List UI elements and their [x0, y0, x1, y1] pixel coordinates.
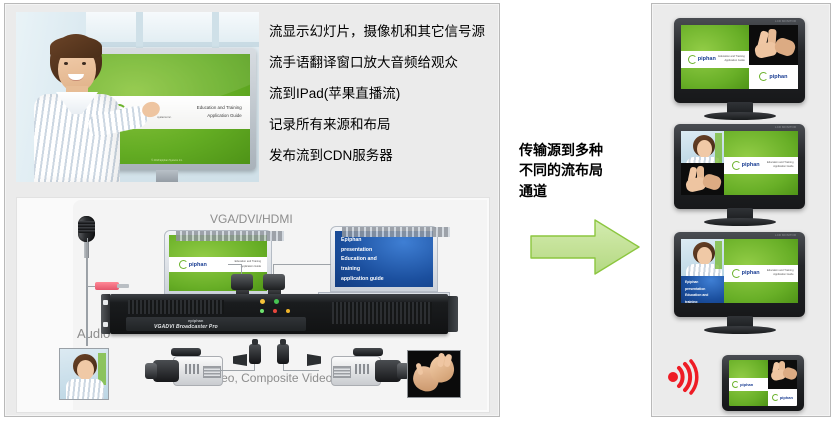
- bullet-5: 发布流到CDN服务器: [269, 148, 494, 165]
- slide-line: training: [685, 299, 720, 303]
- epiphan-wordmark: piphan: [742, 270, 760, 276]
- laptop-keyboard: [176, 231, 284, 241]
- layout-left-column: [681, 131, 724, 195]
- epiphan-wordmark: epiphan: [188, 318, 203, 323]
- epiphan-wordmark: piphan: [769, 74, 787, 80]
- arrow-caption-line1: 传输源到多种: [519, 140, 649, 160]
- arrow-caption: 传输源到多种 不同的流布局 通道: [519, 140, 649, 201]
- cable-segment: [87, 238, 88, 286]
- slide-title-line2: Application Guide: [235, 265, 262, 270]
- bullet-3: 流到IPad(苹果直播流): [269, 86, 494, 103]
- rack-led-row-bottom: [260, 309, 290, 313]
- monitor-brand-label: LCD MONITOR: [775, 233, 796, 237]
- layout-right-column: piphan: [749, 25, 798, 89]
- layout-right-column: piphan: [768, 360, 797, 406]
- presenter-face: [697, 247, 712, 265]
- monitor-brand-label: LCD MONITOR: [775, 125, 796, 129]
- label-vga-dvi-hdmi: VGA/DVI/HDMI: [210, 212, 293, 226]
- slide-title: Education and Training Application Guide: [197, 104, 242, 121]
- camera-viewfinder: [307, 354, 321, 366]
- camera-controls: [185, 364, 199, 374]
- source-panel: piphan systems inc. Education and Traini…: [4, 3, 500, 417]
- presenter-face: [77, 360, 94, 380]
- layout-cell-presenter: [681, 131, 724, 163]
- slide-title-line2: Application Guide: [718, 59, 745, 64]
- rack-faceplate: epiphan VGADVI Broadcaster Pro: [126, 317, 306, 331]
- svideo-connector-1: [249, 344, 261, 364]
- microphone-grill: [78, 221, 95, 233]
- transfer-arrow-group: 传输源到多种 不同的流布局 通道: [519, 140, 649, 201]
- epiphan-e-icon: [732, 161, 741, 170]
- slide-line: application guide: [341, 275, 427, 285]
- led-amber: [260, 299, 265, 304]
- led-amber: [286, 309, 290, 313]
- slide-title-line2: Application Guide: [197, 112, 242, 120]
- rack-led-row-top: [260, 299, 279, 304]
- monitor-screen: piphan Education and Training Applicatio…: [681, 25, 798, 89]
- led-red: [273, 309, 277, 313]
- arrow-caption-line2: 不同的流布局: [519, 160, 649, 180]
- screenshot-root: piphan systems inc. Education and Traini…: [0, 0, 835, 422]
- epiphan-logo: piphan: [732, 269, 760, 278]
- ipad-output: piphan piphan: [722, 355, 804, 411]
- camera-lens-hood: [145, 363, 157, 379]
- camcorder-icon-2: [317, 350, 395, 390]
- layout-cell-slide: piphan Education and Training Applicatio…: [681, 25, 749, 89]
- presenter-shirt: [66, 379, 104, 400]
- epiphan-logo: piphan: [179, 260, 207, 269]
- hand-palm: [701, 173, 722, 192]
- cable-segment: [228, 264, 242, 265]
- epiphan-logo: piphan: [732, 381, 753, 388]
- rack-vent: [128, 300, 224, 314]
- layout-left-column: Epiphan presentation Education and train…: [681, 239, 724, 303]
- rack-screw: [103, 322, 108, 327]
- monitor-stand-base: [704, 326, 776, 334]
- presenter-fringe: [50, 36, 102, 58]
- monitor-brand-label: LCD MONITOR: [775, 19, 796, 23]
- connector-tip: [280, 339, 286, 345]
- layout-cell-text-slide: Epiphan presentation Education and train…: [681, 276, 724, 303]
- presentation-text-slide: Epiphan presentation Education and train…: [335, 231, 433, 287]
- monitor-bezel: LCD MONITOR Epiphan presentation Educati…: [674, 232, 805, 317]
- slide-line: Epiphan: [341, 236, 427, 246]
- connector-body: [263, 274, 285, 290]
- laptop-screen: Epiphan presentation Education and train…: [335, 231, 433, 287]
- presenter-eye: [82, 62, 86, 65]
- monitor-stand-base: [704, 112, 776, 120]
- connector-body: [277, 344, 289, 364]
- rack-vent: [332, 302, 432, 324]
- presenter-thumbnail: [59, 348, 109, 400]
- wireless-broadcast-icon: [664, 357, 704, 397]
- svideo-connector-2: [277, 344, 289, 364]
- bullet-2: 流手语翻译窗口放大音频给观众: [269, 55, 494, 72]
- monitor-layout-1: LCD MONITOR piphan Education and Trainin…: [674, 18, 805, 103]
- led-green: [260, 309, 264, 313]
- epiphan-logo: piphan: [732, 161, 760, 170]
- cable-segment: [254, 364, 255, 371]
- monitor-bezel: LCD MONITOR: [674, 124, 805, 209]
- layout-cell-logo: piphan: [768, 389, 797, 406]
- connector-tip: [252, 339, 258, 345]
- slide-band: piphan Education and Training Applicatio…: [724, 157, 798, 174]
- camera-panel: [203, 366, 221, 378]
- rack-side-module: [448, 296, 458, 332]
- presenter-face: [697, 140, 712, 158]
- slide-band: piphan Education and Training Applicatio…: [681, 51, 749, 68]
- slide-title-line2: Application Guide: [767, 273, 794, 278]
- epiphan-e-icon: [759, 72, 768, 81]
- epiphan-wordmark: piphan: [742, 162, 760, 168]
- connector-body: [249, 344, 261, 364]
- epiphan-wordmark: piphan: [698, 56, 716, 62]
- rack-screw: [103, 300, 108, 305]
- monitor-layout-3: LCD MONITOR Epiphan presentation Educati…: [674, 232, 805, 317]
- layout-cell-logo: piphan: [749, 65, 798, 89]
- bullet-4: 记录所有来源和布局: [269, 117, 494, 134]
- monitor-screen: Epiphan presentation Education and train…: [681, 239, 798, 303]
- epiphan-wordmark: piphan: [740, 382, 753, 387]
- connector-body: [231, 274, 253, 290]
- layout-cell-presenter: [681, 239, 724, 276]
- presenter-figure: [32, 34, 124, 182]
- tablet-screen: piphan piphan: [729, 360, 797, 406]
- slide-title-line2: Application Guide: [767, 165, 794, 170]
- slide-title: Education and Training Application Guide: [767, 269, 794, 278]
- epiphan-tagline: systems inc.: [157, 116, 171, 119]
- rack-ear-left: [101, 294, 110, 334]
- layout-cell-slide: piphan Education and Training Applicatio…: [724, 239, 798, 303]
- slide-line: training: [341, 265, 427, 275]
- slide-band: piphan Education and Training Applicatio…: [169, 257, 267, 272]
- bullet-1: 流显示幻灯片，摄像机和其它信号源: [269, 24, 494, 41]
- presenter-photo: piphan systems inc. Education and Traini…: [16, 12, 259, 182]
- hand-palm: [773, 36, 797, 58]
- connection-diagram: VGA/DVI/HDMI Audio S-Video, Composite Vi…: [16, 197, 490, 413]
- slide-title: Education and Training Application Guide: [767, 161, 794, 170]
- layout-cell-slide: piphan Education and Training Applicatio…: [724, 131, 798, 195]
- camera-controls: [355, 364, 369, 374]
- feature-bullet-list: 流显示幻灯片，摄像机和其它信号源 流手语翻译窗口放大音频给观众 流到IPad(苹…: [269, 24, 494, 178]
- slide-line: Education and: [685, 292, 720, 299]
- monitor-layout-2: LCD MONITOR: [674, 124, 805, 209]
- audio-jack-icon: [95, 282, 129, 290]
- camera-mic: [353, 348, 383, 356]
- layout-cell-sign-language: [768, 360, 797, 389]
- cable-segment: [273, 264, 331, 265]
- thumbnail-backdrop: [715, 133, 722, 163]
- audio-jack-tip: [117, 284, 129, 288]
- camera-panel: [333, 366, 351, 378]
- vgadvi-broadcaster-pro: epiphan VGADVI Broadcaster Pro: [110, 294, 448, 334]
- slide-line: Epiphan: [685, 279, 720, 286]
- monitor-stand-base: [704, 218, 776, 226]
- monitor-bezel: LCD MONITOR piphan Education and Trainin…: [674, 18, 805, 103]
- epiphan-e-icon: [732, 269, 741, 278]
- camera-viewfinder: [233, 354, 247, 366]
- slide-line: Education and: [341, 255, 427, 265]
- epiphan-wordmark: piphan: [780, 395, 793, 400]
- slide-line: presentation: [685, 286, 720, 293]
- slide-title-line1: Education and Training: [197, 104, 242, 112]
- presenter-eye: [64, 62, 68, 65]
- layout-cell-sign-language: [681, 163, 724, 195]
- slide-band: piphan: [729, 378, 768, 390]
- epiphan-e-icon: [179, 260, 188, 269]
- audio-jack-body: [95, 282, 119, 290]
- camera-mic: [171, 348, 201, 356]
- cable-segment: [283, 370, 319, 371]
- sign-language-thumbnail: [407, 350, 461, 398]
- monitor-screen: piphan Education and Training Applicatio…: [681, 131, 798, 195]
- layout-cell-slide: piphan: [729, 360, 768, 406]
- slide-band: piphan Education and Training Applicatio…: [724, 265, 798, 282]
- rack-model-label: VGADVI Broadcaster Pro: [154, 324, 218, 330]
- led-green: [274, 299, 279, 304]
- epiphan-logo: piphan: [688, 55, 716, 64]
- epiphan-wordmark: piphan: [189, 262, 207, 268]
- laptop-keyboard: [342, 227, 450, 237]
- display-stand: [156, 170, 178, 182]
- epiphan-e-icon: [688, 55, 697, 64]
- right-arrow-icon: [529, 218, 641, 276]
- thumbnail-backdrop: [715, 241, 722, 269]
- layout-cell-sign-language: [749, 25, 798, 65]
- arrow-caption-line3: 通道: [519, 181, 649, 201]
- epiphan-e-icon: [732, 381, 739, 388]
- slide-line: presentation: [341, 246, 427, 256]
- slide-title: Education and Training Application Guide: [718, 55, 745, 64]
- cable-segment: [207, 370, 255, 371]
- epiphan-e-icon: [772, 394, 779, 401]
